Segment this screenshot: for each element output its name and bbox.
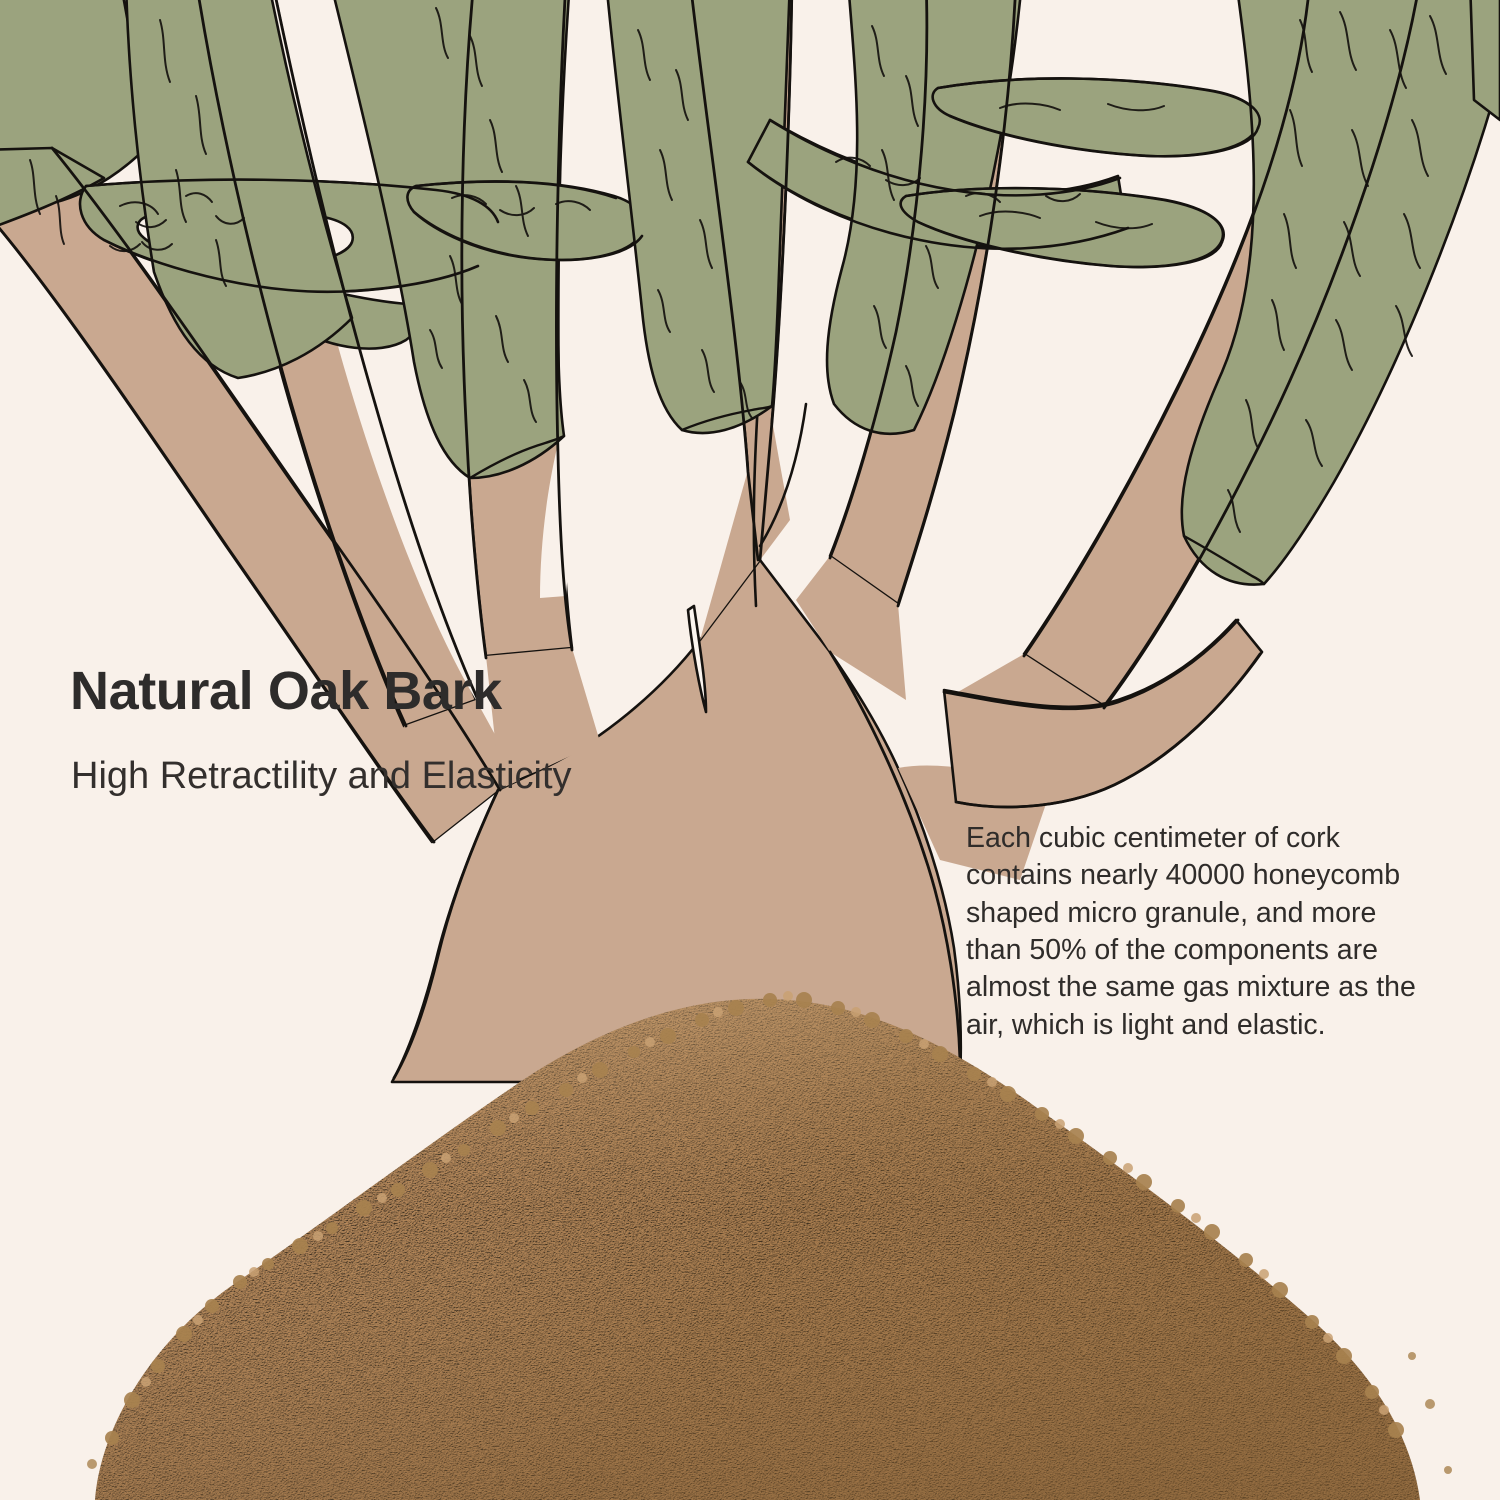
description-paragraph: Each cubic centimeter of cork contains n…	[966, 820, 1466, 1044]
page-subtitle: High Retractility and Elasticity	[71, 757, 572, 797]
page-title: Natural Oak Bark	[70, 664, 502, 719]
promo-graphic: Natural Oak Bark High Retractility and E…	[0, 0, 1500, 1500]
branch-green-far-right-stub	[1470, 0, 1500, 120]
oak-tree-illustration	[0, 0, 1500, 1500]
